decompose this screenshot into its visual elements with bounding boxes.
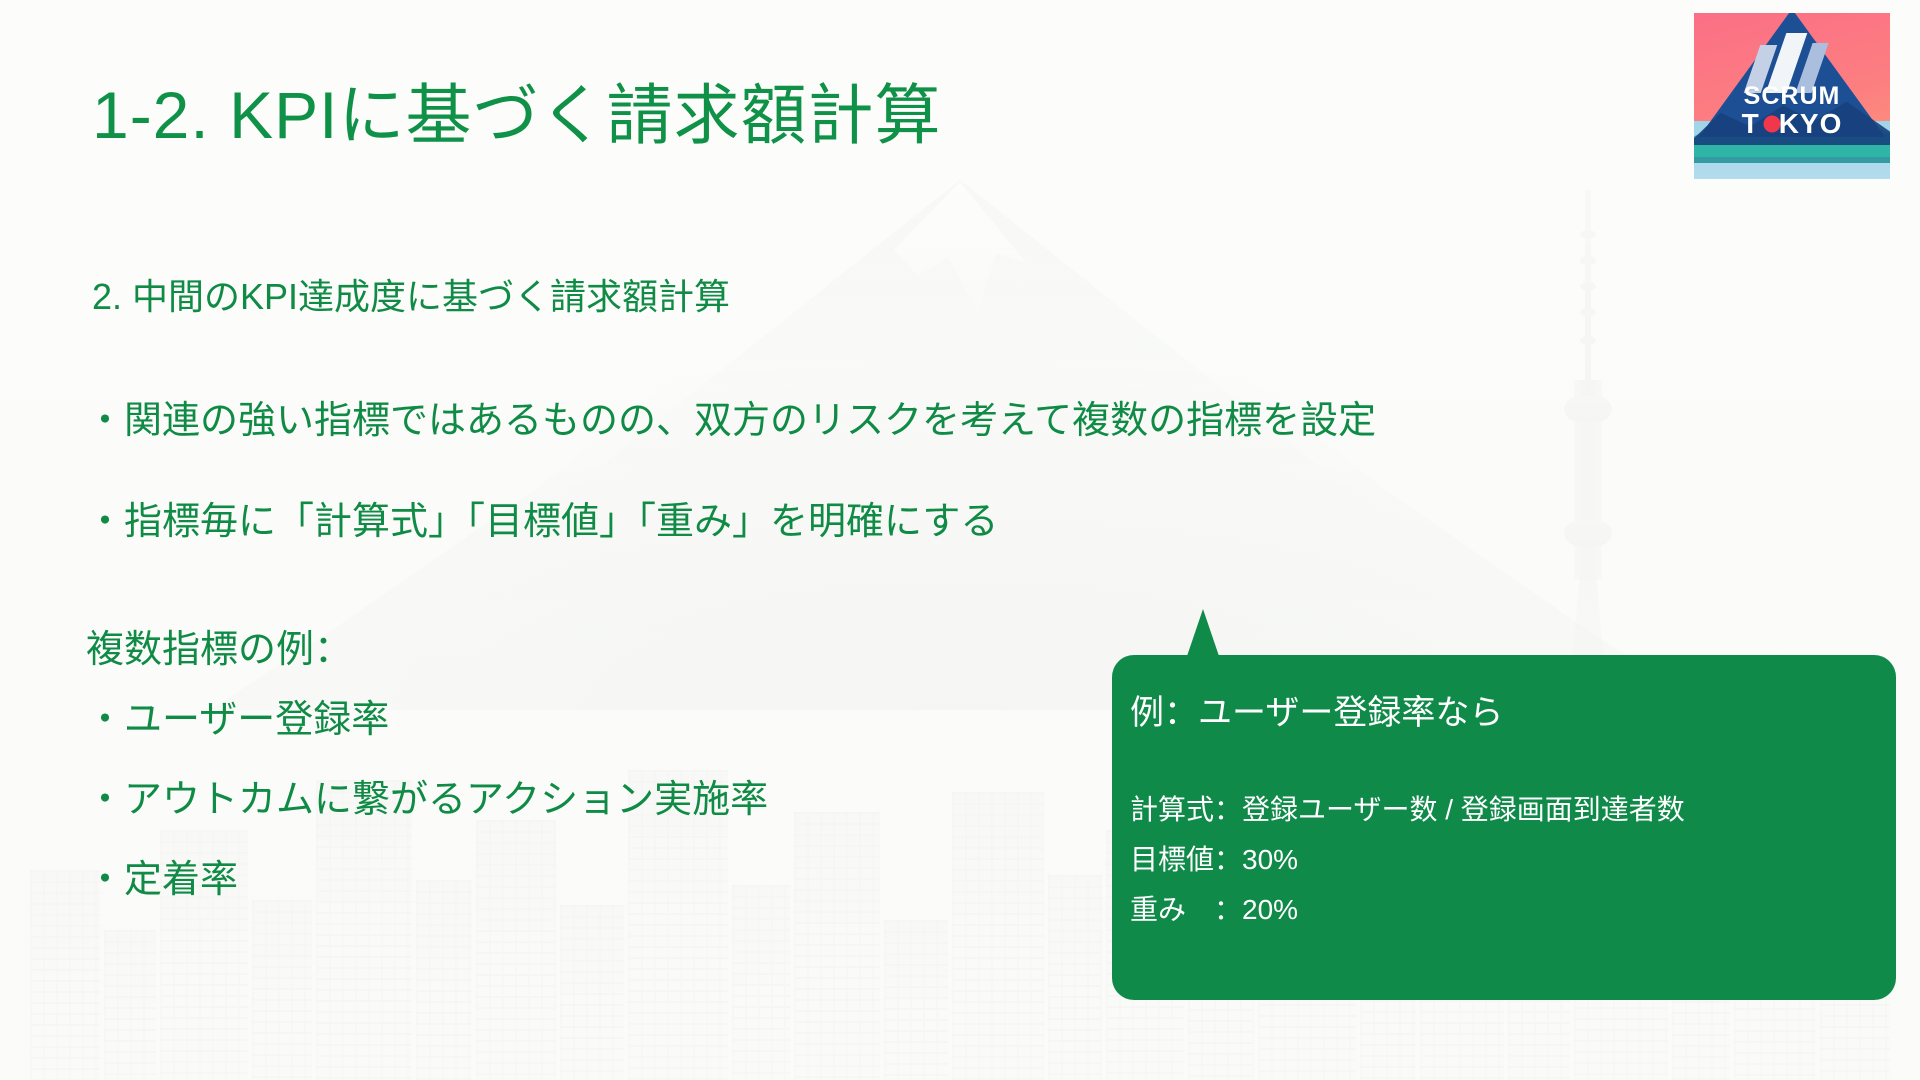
- logo-scrum-text: SCRUM: [1694, 83, 1890, 109]
- callout-tail-icon: [1186, 609, 1220, 659]
- logo-wordmark: SCRUM TKYO: [1694, 83, 1890, 139]
- logo-tokyo-t: T: [1742, 108, 1760, 139]
- bullet-item-2: ・指標毎に「計算式」「目標値」「重み」を明確にする: [86, 490, 998, 545]
- slide-subtitle: 2. 中間のKPI達成度に基づく請求額計算: [92, 268, 730, 320]
- logo-tokyo-kyo: KYO: [1779, 108, 1843, 139]
- logo-sun-dot-icon: [1763, 115, 1780, 132]
- logo-tokyo-text: TKYO: [1742, 109, 1843, 138]
- example-item-2: ・アウトカムに繋がるアクション実施率: [86, 768, 768, 823]
- callout-row-formula: 計算式：登録ユーザー数 / 登録画面到達者数: [1130, 788, 1685, 828]
- scrum-tokyo-logo: SCRUM TKYO: [1694, 13, 1890, 179]
- bullet-item-1: ・関連の強い指標ではあるものの、双方のリスクを考えて複数の指標を設定: [86, 389, 1376, 444]
- callout-title: 例：ユーザー登録率なら: [1130, 685, 1503, 734]
- example-item-1: ・ユーザー登録率: [86, 688, 389, 743]
- example-item-3: ・定着率: [86, 848, 238, 903]
- callout-row-target: 目標値：30%: [1130, 838, 1298, 878]
- slide-title: 1-2. KPIに基づく請求額計算: [92, 62, 941, 158]
- example-heading: 複数指標の例：: [86, 618, 352, 673]
- callout-row-weight: 重み ：20%: [1130, 888, 1298, 928]
